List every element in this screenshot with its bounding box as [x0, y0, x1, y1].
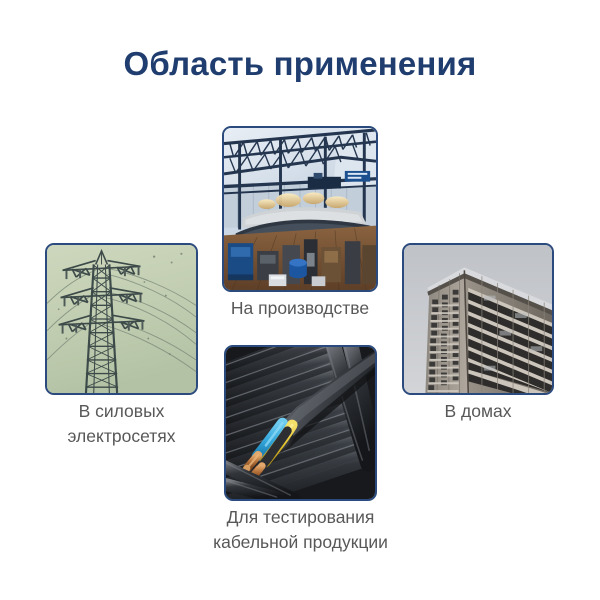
caption-line-1: Для тестирования [161, 505, 441, 530]
caption-line-1: На производстве [170, 296, 430, 321]
page-title: Область применения [0, 44, 600, 84]
tile-cabletesting[interactable]: Для тестирования кабельной продукции [224, 345, 377, 501]
tile-production[interactable]: На производстве [222, 126, 378, 292]
slide-canvas: Область применения [0, 0, 600, 600]
tile-caption-production: На производстве [170, 296, 430, 321]
tile-caption-powergrid: В силовых электросетях [7, 399, 237, 449]
caption-line-1: В силовых [7, 399, 237, 424]
power-cables-photo [224, 345, 377, 501]
tile-caption-cabletesting: Для тестирования кабельной продукции [161, 505, 441, 555]
caption-line-2: электросетях [7, 424, 237, 449]
transmission-pylon-photo [45, 243, 198, 395]
factory-interior-photo [222, 126, 378, 292]
caption-line-1: В домах [368, 399, 588, 424]
apartment-building-photo [402, 243, 554, 395]
caption-line-2: кабельной продукции [161, 530, 441, 555]
tile-homes[interactable]: В домах [402, 243, 554, 395]
tile-powergrid[interactable]: В силовых электросетях [45, 243, 198, 395]
tile-caption-homes: В домах [368, 399, 588, 424]
